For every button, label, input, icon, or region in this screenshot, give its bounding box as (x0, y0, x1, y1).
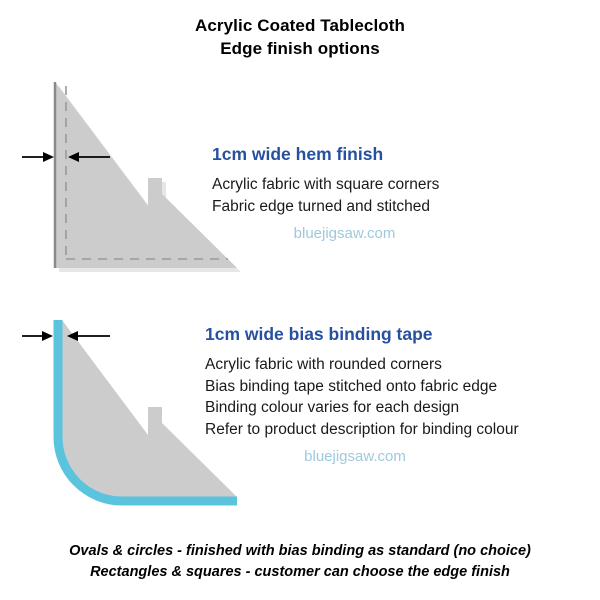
bias-binding-line-3: Binding colour varies for each design (205, 397, 519, 419)
hem-arrow-left-head (43, 152, 54, 162)
bias-binding-line-4: Refer to product description for binding… (205, 419, 519, 441)
square-corner-hem-diagram (0, 0, 600, 600)
edge-finish-options-infographic: Acrylic Coated Tablecloth Edge finish op… (0, 0, 600, 600)
hem-triangle-fabric (55, 82, 237, 268)
title-line-1: Acrylic Coated Tablecloth (0, 14, 600, 37)
bias-binding-lines: Acrylic fabric with rounded corners Bias… (205, 354, 519, 440)
footer-note: Ovals & circles - finished with bias bin… (0, 541, 600, 583)
bias-binding-line-1: Acrylic fabric with rounded corners (205, 354, 519, 376)
hem-finish-website-url: bluejigsaw.com (212, 223, 477, 244)
hem-arrow-right-head (68, 152, 79, 162)
page-title: Acrylic Coated Tablecloth Edge finish op… (0, 14, 600, 60)
footer-line-2: Rectangles & squares - customer can choo… (0, 562, 600, 583)
rounded-corner-binding-diagram (0, 0, 600, 600)
footer-line-1: Ovals & circles - finished with bias bin… (0, 541, 600, 562)
hem-finish-text-block: 1cm wide hem finish Acrylic fabric with … (212, 143, 477, 244)
bias-binding-line-2: Bias binding tape stitched onto fabric e… (205, 376, 519, 398)
hem-finish-line-1: Acrylic fabric with square corners (212, 174, 477, 196)
bias-binding-text-block: 1cm wide bias binding tape Acrylic fabri… (205, 323, 519, 467)
title-line-2: Edge finish options (0, 37, 600, 60)
bias-binding-website-url: bluejigsaw.com (205, 446, 505, 467)
hem-finish-heading: 1cm wide hem finish (212, 143, 477, 165)
hem-finish-lines: Acrylic fabric with square corners Fabri… (212, 174, 477, 217)
bias-binding-heading: 1cm wide bias binding tape (205, 323, 519, 345)
binding-arrow-left-head (42, 331, 53, 341)
binding-arrow-right-head (67, 331, 78, 341)
hem-finish-line-2: Fabric edge turned and stitched (212, 196, 477, 218)
